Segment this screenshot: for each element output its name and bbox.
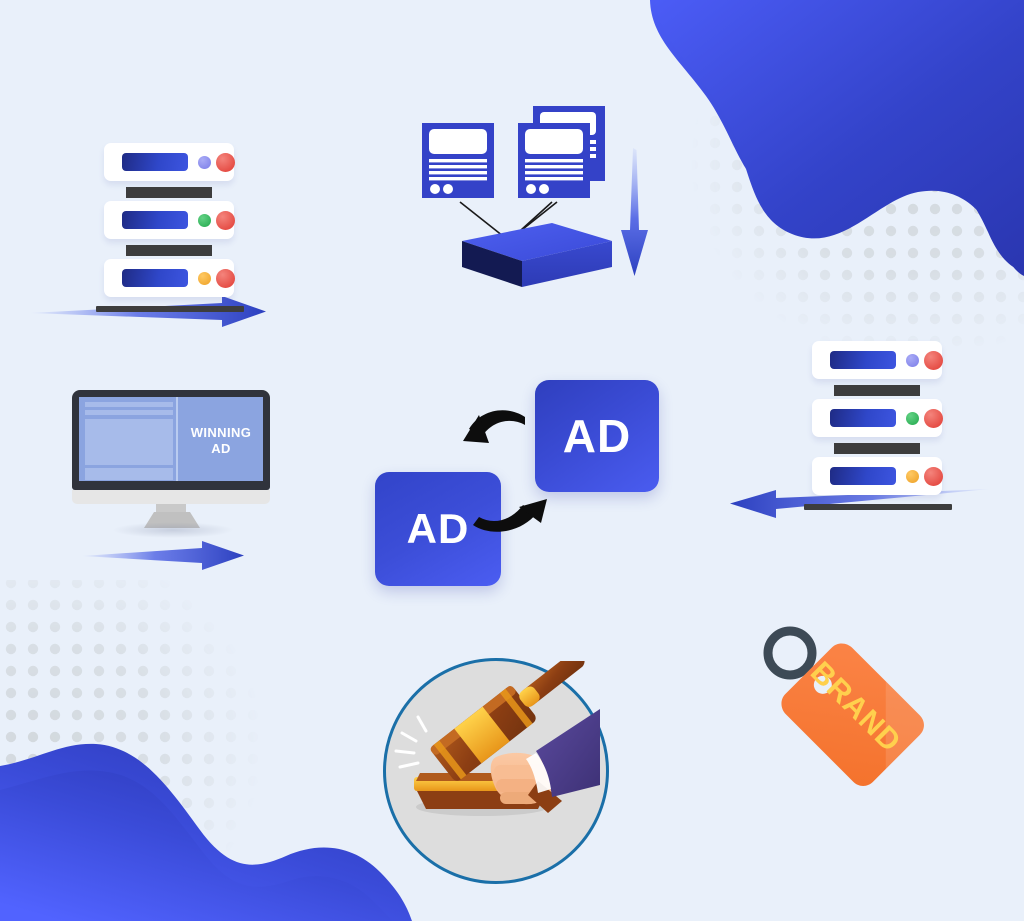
server-led-yellow-icon <box>198 272 211 285</box>
gavel-sleeve <box>526 709 600 797</box>
rotation-arrows-group <box>455 395 585 555</box>
server-status-bar <box>830 409 896 427</box>
ad-creative-card-left <box>422 123 494 198</box>
server-unit <box>812 341 942 379</box>
server-spacer <box>834 385 920 396</box>
tag-ring-icon <box>768 631 812 675</box>
server-status-bar <box>122 211 188 229</box>
illustration-canvas: WINNING AD AD AD <box>0 0 1024 921</box>
server-base <box>96 306 244 312</box>
server-led-red-icon <box>216 153 235 172</box>
server-status-bar <box>122 153 188 171</box>
brand-tag: BRAND <box>744 606 954 816</box>
server-spacer <box>834 443 920 454</box>
monitor-content-block <box>85 419 173 465</box>
server-led-red-icon <box>924 409 943 428</box>
winning-line-1: WINNING <box>191 425 252 440</box>
ad-creatives-group <box>400 95 670 295</box>
server-led-red-icon <box>216 269 235 288</box>
monitor-panel-divider <box>176 397 178 481</box>
server-unit <box>104 143 234 181</box>
server-unit <box>812 457 942 495</box>
server-led-purple-icon <box>198 156 211 169</box>
monitor-winning-ad-label: WINNING AD <box>179 425 263 457</box>
monitor-bezel <box>72 490 270 504</box>
flow-arrow-bottom-left-icon <box>82 541 244 570</box>
server-status-bar <box>122 269 188 287</box>
monitor-content-bar <box>85 402 173 407</box>
price-tag-icon: BRAND <box>744 606 954 816</box>
monitor: WINNING AD <box>72 390 287 530</box>
server-led-red-icon <box>924 351 943 370</box>
server-spacer <box>126 187 212 198</box>
server-led-red-icon <box>216 211 235 230</box>
server-unit <box>812 399 942 437</box>
server-base <box>804 504 952 510</box>
server-status-bar <box>830 351 896 369</box>
monitor-content-bar <box>85 468 173 480</box>
monitor-shadow <box>112 522 234 538</box>
server-unit <box>104 201 234 239</box>
server-led-yellow-icon <box>906 470 919 483</box>
server-led-green-icon <box>198 214 211 227</box>
monitor-content-bar <box>85 410 173 415</box>
curved-arrow-right-icon <box>473 499 547 532</box>
server-status-bar <box>830 467 896 485</box>
server-spacer <box>126 245 212 256</box>
winning-line-2: AD <box>211 441 231 456</box>
server-led-purple-icon <box>906 354 919 367</box>
curved-arrow-left-icon <box>463 410 525 443</box>
ad-platform-icon <box>462 223 612 287</box>
auction-gavel-badge <box>383 658 609 884</box>
gavel-icon <box>386 661 600 875</box>
server-led-red-icon <box>924 467 943 486</box>
server-led-green-icon <box>906 412 919 425</box>
gavel-impact-sparks <box>396 717 426 767</box>
server-unit <box>104 259 234 297</box>
ad-creative-card-right <box>518 123 590 198</box>
gavel-handle <box>517 661 588 709</box>
